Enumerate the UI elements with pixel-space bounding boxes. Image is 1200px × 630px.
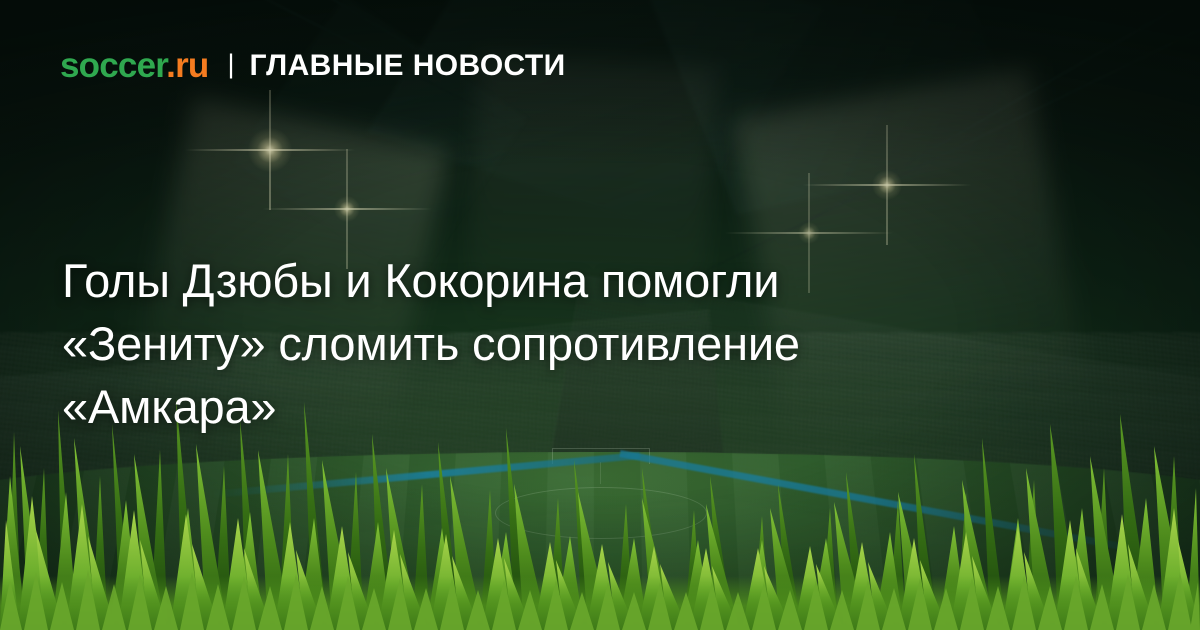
site-logo[interactable]: soccer.ru [60, 48, 208, 83]
floodlight-flare-icon [872, 170, 902, 200]
headline-line-3: «Амкара» [62, 375, 1062, 438]
section-kicker: ГЛАВНЫЕ НОВОСТИ [249, 51, 565, 81]
floodlight-flare-icon [798, 222, 820, 244]
logo-text-suffix: .ru [166, 46, 208, 85]
headline-line-1: Голы Дзюбы и Кокорина помогли [62, 249, 1062, 312]
social-share-card: soccer.ru | ГЛАВНЫЕ НОВОСТИ Голы Дзюбы и… [0, 0, 1200, 630]
floodlight-flare-icon [334, 196, 360, 222]
logo-text-primary: soccer [60, 46, 166, 85]
header: soccer.ru | ГЛАВНЫЕ НОВОСТИ [60, 48, 566, 83]
headline-line-2: «Зениту» сломить сопротивление [62, 312, 1062, 375]
header-divider: | [227, 51, 234, 78]
floodlight-flare-icon [248, 128, 292, 172]
headline: Голы Дзюбы и Кокорина помогли «Зениту» с… [62, 249, 1062, 438]
